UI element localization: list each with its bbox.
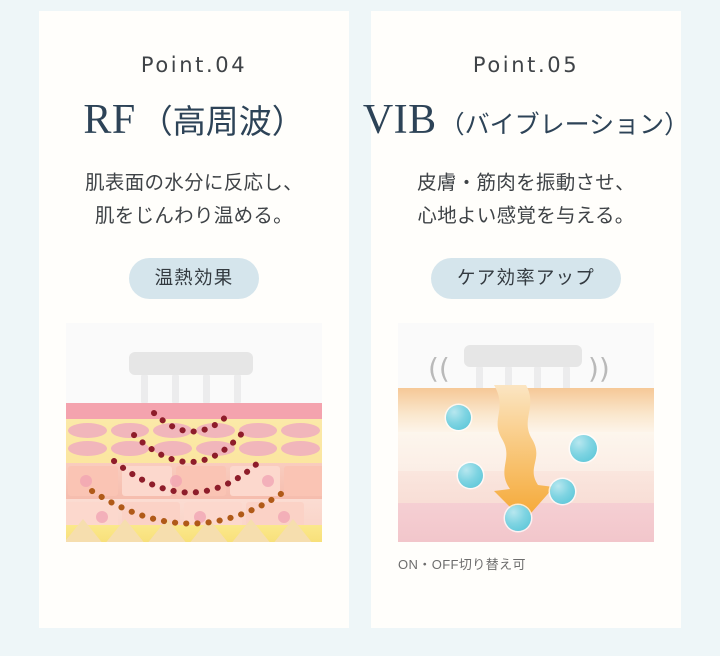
point-label: Point.05 — [473, 55, 579, 76]
bubble-icon — [550, 479, 575, 504]
card-description: 肌表面の水分に反応し、 肌をじんわり温める。 — [85, 167, 303, 233]
card-point-05[interactable]: Point.05 VIB （バイブレーション） 皮膚・筋肉を振動させ、 心地よい… — [371, 11, 681, 628]
title-japanese: （バイブレーション） — [440, 113, 690, 138]
badge-row: 温熱効果 — [129, 258, 260, 299]
description-line-1: 皮膚・筋肉を振動させ、 — [417, 167, 635, 200]
card-title: VIB （バイブレーション） — [363, 99, 689, 141]
description-line-2: 心地よい感覚を与える。 — [417, 200, 635, 233]
bubble-icon — [505, 505, 531, 531]
title-japanese: （高周波） — [140, 107, 305, 140]
status-badge: ケア効率アップ — [431, 258, 621, 299]
card-description: 皮膚・筋肉を振動させ、 心地よい感覚を与える。 — [417, 167, 635, 233]
illustration-skin-cross-section — [66, 323, 322, 542]
title-abbreviation: RF — [83, 99, 135, 141]
page-root: Point.04 RF （高周波） 肌表面の水分に反応し、 肌をじんわり温める。… — [0, 0, 720, 656]
description-line-2: 肌をじんわり温める。 — [85, 200, 303, 233]
description-line-1: 肌表面の水分に反応し、 — [85, 167, 303, 200]
illustration-caption: ON・OFF切り替え可 — [398, 554, 526, 573]
illustration-skin-vibration: (( )) — [398, 323, 654, 542]
point-label: Point.04 — [141, 55, 247, 76]
title-abbreviation: VIB — [363, 99, 437, 141]
card-point-04[interactable]: Point.04 RF （高周波） 肌表面の水分に反応し、 肌をじんわり温める。… — [39, 11, 349, 628]
status-badge: 温熱効果 — [129, 258, 260, 299]
badge-row: ケア効率アップ — [431, 258, 621, 299]
bubble-icon — [458, 463, 483, 488]
bubble-icon — [446, 405, 471, 430]
heat-arc-group-icon — [66, 323, 322, 542]
card-title: RF （高周波） — [83, 99, 304, 141]
bubble-icon — [570, 435, 597, 462]
